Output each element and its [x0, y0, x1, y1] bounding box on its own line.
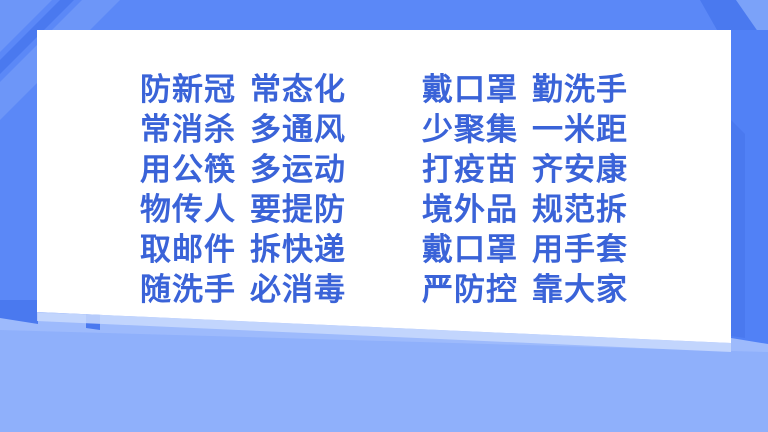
slogan-part-first: 戴口罩: [422, 230, 518, 270]
slogan-part-second: 勤洗手: [532, 70, 628, 110]
slogan-part-first: 常消杀: [140, 110, 236, 150]
slogan-part-second: 规范拆: [532, 190, 628, 230]
background-right-block-edge: [731, 120, 745, 338]
slogan-row: 严防控 靠大家: [422, 270, 628, 310]
poster-canvas: 防新冠 常态化 常消杀 多通风 用公筷 多运动 物传人 要提防 取邮件 拆快递 …: [0, 0, 768, 432]
slogan-part-second: 多通风: [250, 110, 346, 150]
slogan-row: 常消杀 多通风: [140, 110, 346, 150]
slogan-part-first: 戴口罩: [422, 70, 518, 110]
slogan-part-second: 常态化: [250, 70, 346, 110]
slogan-part-first: 少聚集: [422, 110, 518, 150]
slogan-column-right: 戴口罩 勤洗手 少聚集 一米距 打疫苗 齐安康 境外品 规范拆 戴口罩 用手套 …: [422, 70, 628, 310]
slogan-part-second: 靠大家: [532, 270, 628, 310]
slogan-part-first: 打疫苗: [422, 150, 518, 190]
slogan-part-second: 齐安康: [532, 150, 628, 190]
slogan-row: 少聚集 一米距: [422, 110, 628, 150]
slogan-row: 取邮件 拆快递: [140, 230, 346, 270]
slogan-part-first: 取邮件: [140, 230, 236, 270]
slogan-row: 戴口罩 勤洗手: [422, 70, 628, 110]
slogan-row: 防新冠 常态化: [140, 70, 346, 110]
slogan-part-first: 境外品: [422, 190, 518, 230]
slogan-row: 物传人 要提防: [140, 190, 346, 230]
slogan-part-second: 多运动: [250, 150, 346, 190]
slogan-row: 用公筷 多运动: [140, 150, 346, 190]
slogan-part-second: 必消毒: [250, 270, 346, 310]
slogan-part-first: 用公筷: [140, 150, 236, 190]
slogan-part-first: 随洗手: [140, 270, 236, 310]
slogan-part-first: 严防控: [422, 270, 518, 310]
slogan-board: 防新冠 常态化 常消杀 多通风 用公筷 多运动 物传人 要提防 取邮件 拆快递 …: [37, 30, 731, 312]
slogan-part-first: 物传人: [140, 190, 236, 230]
slogan-row: 随洗手 必消毒: [140, 270, 346, 310]
slogan-part-second: 用手套: [532, 230, 628, 270]
slogan-part-second: 拆快递: [250, 230, 346, 270]
slogan-row: 境外品 规范拆: [422, 190, 628, 230]
slogan-row: 打疫苗 齐安康: [422, 150, 628, 190]
slogan-part-first: 防新冠: [140, 70, 236, 110]
slogan-part-second: 一米距: [532, 110, 628, 150]
slogan-column-left: 防新冠 常态化 常消杀 多通风 用公筷 多运动 物传人 要提防 取邮件 拆快递 …: [140, 70, 346, 310]
slogan-row: 戴口罩 用手套: [422, 230, 628, 270]
slogan-part-second: 要提防: [250, 190, 346, 230]
